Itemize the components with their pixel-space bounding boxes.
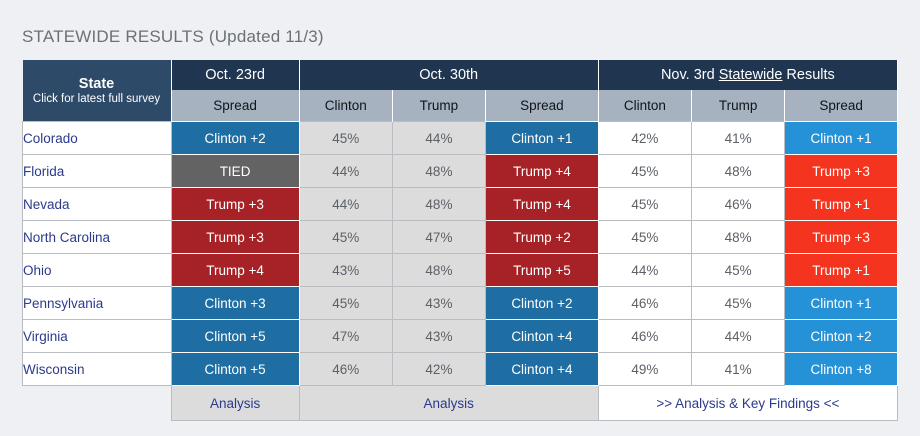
- spread-oct23: Clinton +3: [171, 287, 299, 320]
- spread-nov3: Trump +1: [785, 188, 898, 221]
- statewide-results-table: State Click for latest full survey Oct. …: [22, 60, 898, 421]
- pct-oct30-clinton: 47%: [299, 320, 392, 353]
- subheader-oct30-trump: Trump: [392, 90, 485, 122]
- pct-nov3-clinton: 45%: [598, 221, 691, 254]
- pct-nov3-clinton: 45%: [598, 188, 691, 221]
- subheader-oct30-spread: Spread: [486, 90, 599, 122]
- pct-oct30-clinton: 45%: [299, 287, 392, 320]
- spread-oct30: Trump +4: [486, 188, 599, 221]
- pct-oct30-trump: 48%: [392, 155, 485, 188]
- pct-oct30-trump: 44%: [392, 122, 485, 155]
- spread-nov3: Clinton +1: [785, 122, 898, 155]
- header-group-oct30: Oct. 30th: [299, 60, 598, 90]
- spread-nov3: Trump +1: [785, 254, 898, 287]
- footer-analysis-oct30[interactable]: Analysis: [299, 386, 598, 421]
- header-state-title: State: [23, 75, 171, 93]
- header-group-nov3-underlined: Statewide: [719, 67, 783, 83]
- table-row: ColoradoClinton +245%44%Clinton +142%41%…: [23, 122, 898, 155]
- spread-nov3: Clinton +2: [785, 320, 898, 353]
- pct-nov3-trump: 48%: [691, 155, 784, 188]
- table-row: WisconsinClinton +546%42%Clinton +449%41…: [23, 353, 898, 386]
- pct-oct30-clinton: 43%: [299, 254, 392, 287]
- header-state: State Click for latest full survey: [23, 60, 172, 122]
- pct-nov3-clinton: 49%: [598, 353, 691, 386]
- pct-oct30-clinton: 46%: [299, 353, 392, 386]
- state-name-link[interactable]: Nevada: [23, 188, 172, 221]
- header-state-subtitle: Click for latest full survey: [23, 93, 171, 106]
- spread-oct23: Clinton +5: [171, 320, 299, 353]
- pct-nov3-trump: 41%: [691, 122, 784, 155]
- footer-row: Analysis Analysis >> Analysis & Key Find…: [23, 386, 898, 421]
- header-group-oct23: Oct. 23rd: [171, 60, 299, 90]
- pct-nov3-clinton: 42%: [598, 122, 691, 155]
- pct-oct30-trump: 42%: [392, 353, 485, 386]
- pct-oct30-clinton: 45%: [299, 122, 392, 155]
- pct-nov3-trump: 45%: [691, 254, 784, 287]
- subheader-oct23-spread: Spread: [171, 90, 299, 122]
- table-row: OhioTrump +443%48%Trump +544%45%Trump +1: [23, 254, 898, 287]
- spread-oct23: Trump +3: [171, 188, 299, 221]
- page-title: STATEWIDE RESULTS (Updated 11/3): [22, 27, 324, 47]
- state-name-link[interactable]: Ohio: [23, 254, 172, 287]
- state-name-link[interactable]: Pennsylvania: [23, 287, 172, 320]
- subheader-nov3-trump: Trump: [691, 90, 784, 122]
- spread-oct30: Clinton +1: [486, 122, 599, 155]
- pct-nov3-trump: 45%: [691, 287, 784, 320]
- header-group-nov3-after: Results: [782, 67, 834, 83]
- table-row: North CarolinaTrump +345%47%Trump +245%4…: [23, 221, 898, 254]
- pct-nov3-clinton: 44%: [598, 254, 691, 287]
- spread-oct30: Clinton +2: [486, 287, 599, 320]
- subheader-nov3-clinton: Clinton: [598, 90, 691, 122]
- state-name-link[interactable]: Virginia: [23, 320, 172, 353]
- group-header-row: State Click for latest full survey Oct. …: [23, 60, 898, 90]
- spread-oct23: TIED: [171, 155, 299, 188]
- pct-nov3-clinton: 46%: [598, 287, 691, 320]
- subheader-nov3-spread: Spread: [785, 90, 898, 122]
- pct-oct30-trump: 48%: [392, 188, 485, 221]
- footer-analysis-nov3[interactable]: >> Analysis & Key Findings <<: [598, 386, 897, 421]
- state-name-link[interactable]: North Carolina: [23, 221, 172, 254]
- subheader-oct30-clinton: Clinton: [299, 90, 392, 122]
- spread-nov3: Trump +3: [785, 221, 898, 254]
- table-row: VirginiaClinton +547%43%Clinton +446%44%…: [23, 320, 898, 353]
- pct-oct30-trump: 43%: [392, 287, 485, 320]
- spread-nov3: Clinton +1: [785, 287, 898, 320]
- table-row: FloridaTIED44%48%Trump +445%48%Trump +3: [23, 155, 898, 188]
- spread-oct30: Clinton +4: [486, 353, 599, 386]
- spread-oct23: Trump +4: [171, 254, 299, 287]
- pct-nov3-trump: 41%: [691, 353, 784, 386]
- spread-oct30: Trump +5: [486, 254, 599, 287]
- pct-nov3-clinton: 46%: [598, 320, 691, 353]
- footer-blank: [23, 386, 172, 421]
- pct-oct30-clinton: 44%: [299, 155, 392, 188]
- pct-nov3-clinton: 45%: [598, 155, 691, 188]
- spread-nov3: Clinton +8: [785, 353, 898, 386]
- pct-oct30-clinton: 45%: [299, 221, 392, 254]
- header-group-nov3-before: Nov. 3rd: [661, 67, 719, 83]
- table-row: NevadaTrump +344%48%Trump +445%46%Trump …: [23, 188, 898, 221]
- state-name-link[interactable]: Wisconsin: [23, 353, 172, 386]
- spread-oct23: Clinton +2: [171, 122, 299, 155]
- header-group-nov3: Nov. 3rd Statewide Results: [598, 60, 897, 90]
- pct-oct30-trump: 47%: [392, 221, 485, 254]
- state-name-link[interactable]: Colorado: [23, 122, 172, 155]
- table-row: PennsylvaniaClinton +345%43%Clinton +246…: [23, 287, 898, 320]
- spread-oct30: Clinton +4: [486, 320, 599, 353]
- pct-nov3-trump: 44%: [691, 320, 784, 353]
- footer-analysis-oct23[interactable]: Analysis: [171, 386, 299, 421]
- spread-oct30: Trump +2: [486, 221, 599, 254]
- state-name-link[interactable]: Florida: [23, 155, 172, 188]
- table-body: ColoradoClinton +245%44%Clinton +142%41%…: [23, 122, 898, 386]
- pct-nov3-trump: 48%: [691, 221, 784, 254]
- pct-oct30-trump: 48%: [392, 254, 485, 287]
- spread-oct30: Trump +4: [486, 155, 599, 188]
- statewide-results-page: STATEWIDE RESULTS (Updated 11/3) State C…: [0, 0, 920, 436]
- spread-oct23: Clinton +5: [171, 353, 299, 386]
- pct-oct30-trump: 43%: [392, 320, 485, 353]
- pct-nov3-trump: 46%: [691, 188, 784, 221]
- pct-oct30-clinton: 44%: [299, 188, 392, 221]
- spread-oct23: Trump +3: [171, 221, 299, 254]
- spread-nov3: Trump +3: [785, 155, 898, 188]
